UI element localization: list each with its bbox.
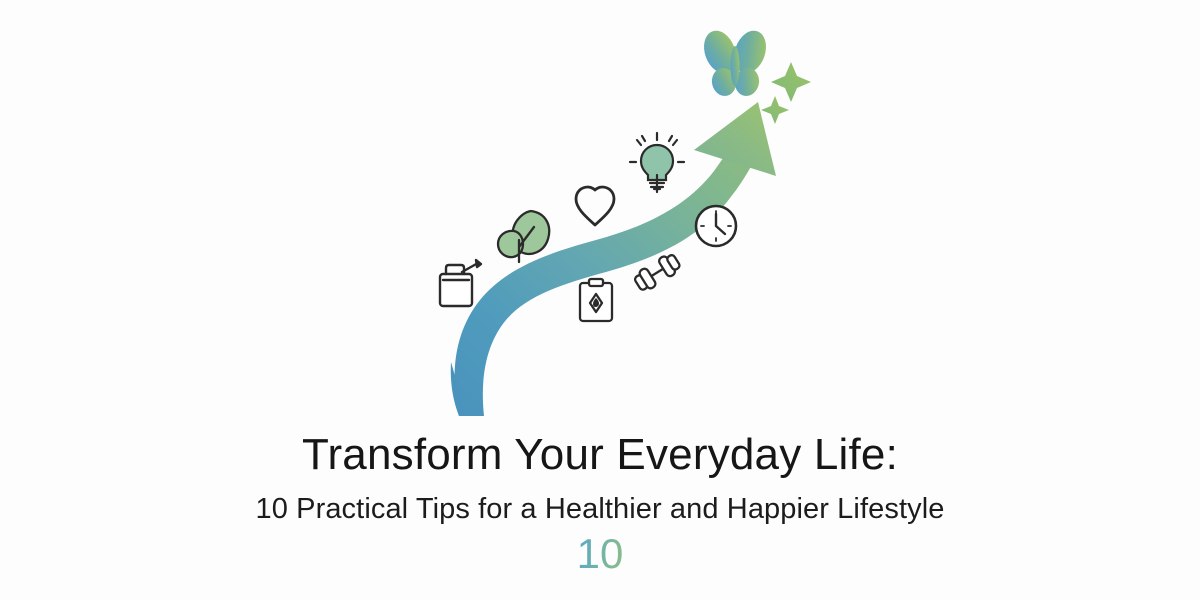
clock-icon [696, 206, 736, 246]
count-badge: 10 [577, 533, 624, 575]
text-block: Transform Your Everyday Life: 10 Practic… [0, 430, 1200, 575]
clipboard-water-icon [580, 279, 612, 321]
sparkle-icon-large [771, 62, 811, 102]
sparkle-icon-small [761, 96, 789, 124]
lightbulb-icon [630, 133, 684, 192]
upward-curved-arrow [451, 102, 776, 416]
basket-pen-icon [440, 260, 481, 306]
leaf-icon [498, 211, 549, 262]
count-badge-wrap: 10 [0, 527, 1200, 575]
poster-canvas: Transform Your Everyday Life: 10 Practic… [0, 0, 1200, 600]
heart-icon [576, 187, 614, 225]
page-subtitle: 10 Practical Tips for a Healthier and Ha… [0, 493, 1200, 526]
butterfly-icon [698, 26, 771, 98]
arrow-ribbon-body [455, 126, 764, 416]
page-title: Transform Your Everyday Life: [0, 430, 1200, 479]
